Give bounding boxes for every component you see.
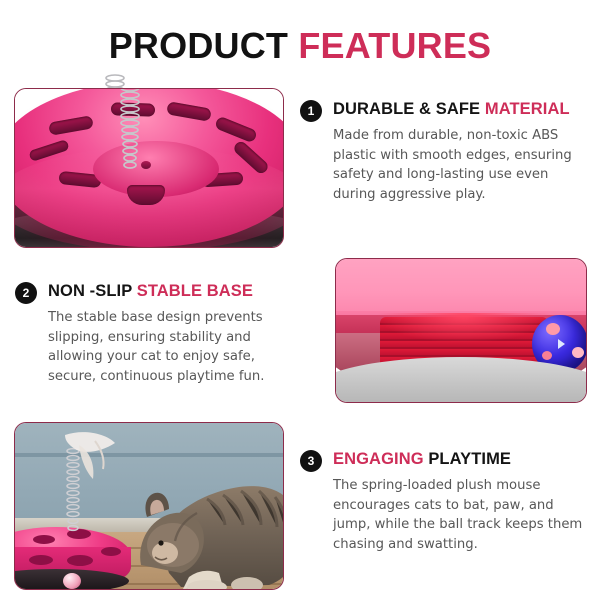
feature-badge-1: 1 (300, 100, 322, 122)
photo2-ball-dot (572, 347, 584, 358)
feature-badge-2: 2 (15, 282, 37, 304)
product-photo-base-closeup (335, 258, 587, 403)
feature-body-2: The stable base design prevents slipping… (48, 308, 300, 386)
feature-heading-3-accent: ENGAGING (333, 450, 428, 468)
feature-heading-1-accent: MATERIAL (485, 100, 570, 118)
photo3-toy-hole (29, 555, 53, 565)
product-photo-cat-playing (14, 422, 284, 590)
photo3-toy-hole (33, 535, 55, 544)
feature-body-3: The spring-loaded plush mouse encourages… (333, 476, 585, 554)
feature-block-1: 1 DURABLE & SAFE MATERIAL Made from dura… (300, 98, 588, 204)
photo2-ball-dot (546, 323, 560, 335)
feature-block-3: 3 ENGAGING PLAYTIME The spring-loaded pl… (300, 448, 588, 554)
photo3-toy-ball (63, 573, 81, 589)
photo2-ball-dot (542, 351, 552, 360)
photo2-red-glow (376, 313, 552, 343)
feature-heading-3-black: PLAYTIME (428, 450, 511, 468)
photo2-ball-highlight (558, 339, 565, 349)
feature-heading-1: DURABLE & SAFE MATERIAL (333, 98, 588, 120)
feature-heading-3: ENGAGING PLAYTIME (333, 448, 588, 470)
feature-heading-2-black: NON -SLIP (48, 282, 137, 300)
feature-block-2: 2 NON -SLIP STABLE BASE The stable base … (15, 280, 303, 386)
product-photo-top-view (14, 88, 284, 248)
photo3-toy-hole (101, 547, 121, 556)
photo3-tabby-cat (111, 453, 283, 589)
photo3-toy-hole (67, 555, 93, 566)
feature-body-1: Made from durable, non-toxic ABS plastic… (333, 126, 585, 204)
title-part-black: PRODUCT (109, 25, 288, 66)
title-part-accent: FEATURES (298, 25, 491, 66)
photo2-grey-nonslip-base (336, 357, 586, 402)
photo1-spring-icon (112, 89, 148, 193)
page-title: PRODUCT FEATURES (0, 26, 600, 66)
infographic-page: PRODUCT FEATURES (0, 0, 600, 600)
photo3-feather-icon (55, 429, 121, 487)
feature-heading-1-black: DURABLE & SAFE (333, 100, 485, 118)
feature-badge-3: 3 (300, 450, 322, 472)
feature-heading-2: NON -SLIP STABLE BASE (48, 280, 303, 302)
feature-heading-2-accent: STABLE BASE (137, 282, 253, 300)
